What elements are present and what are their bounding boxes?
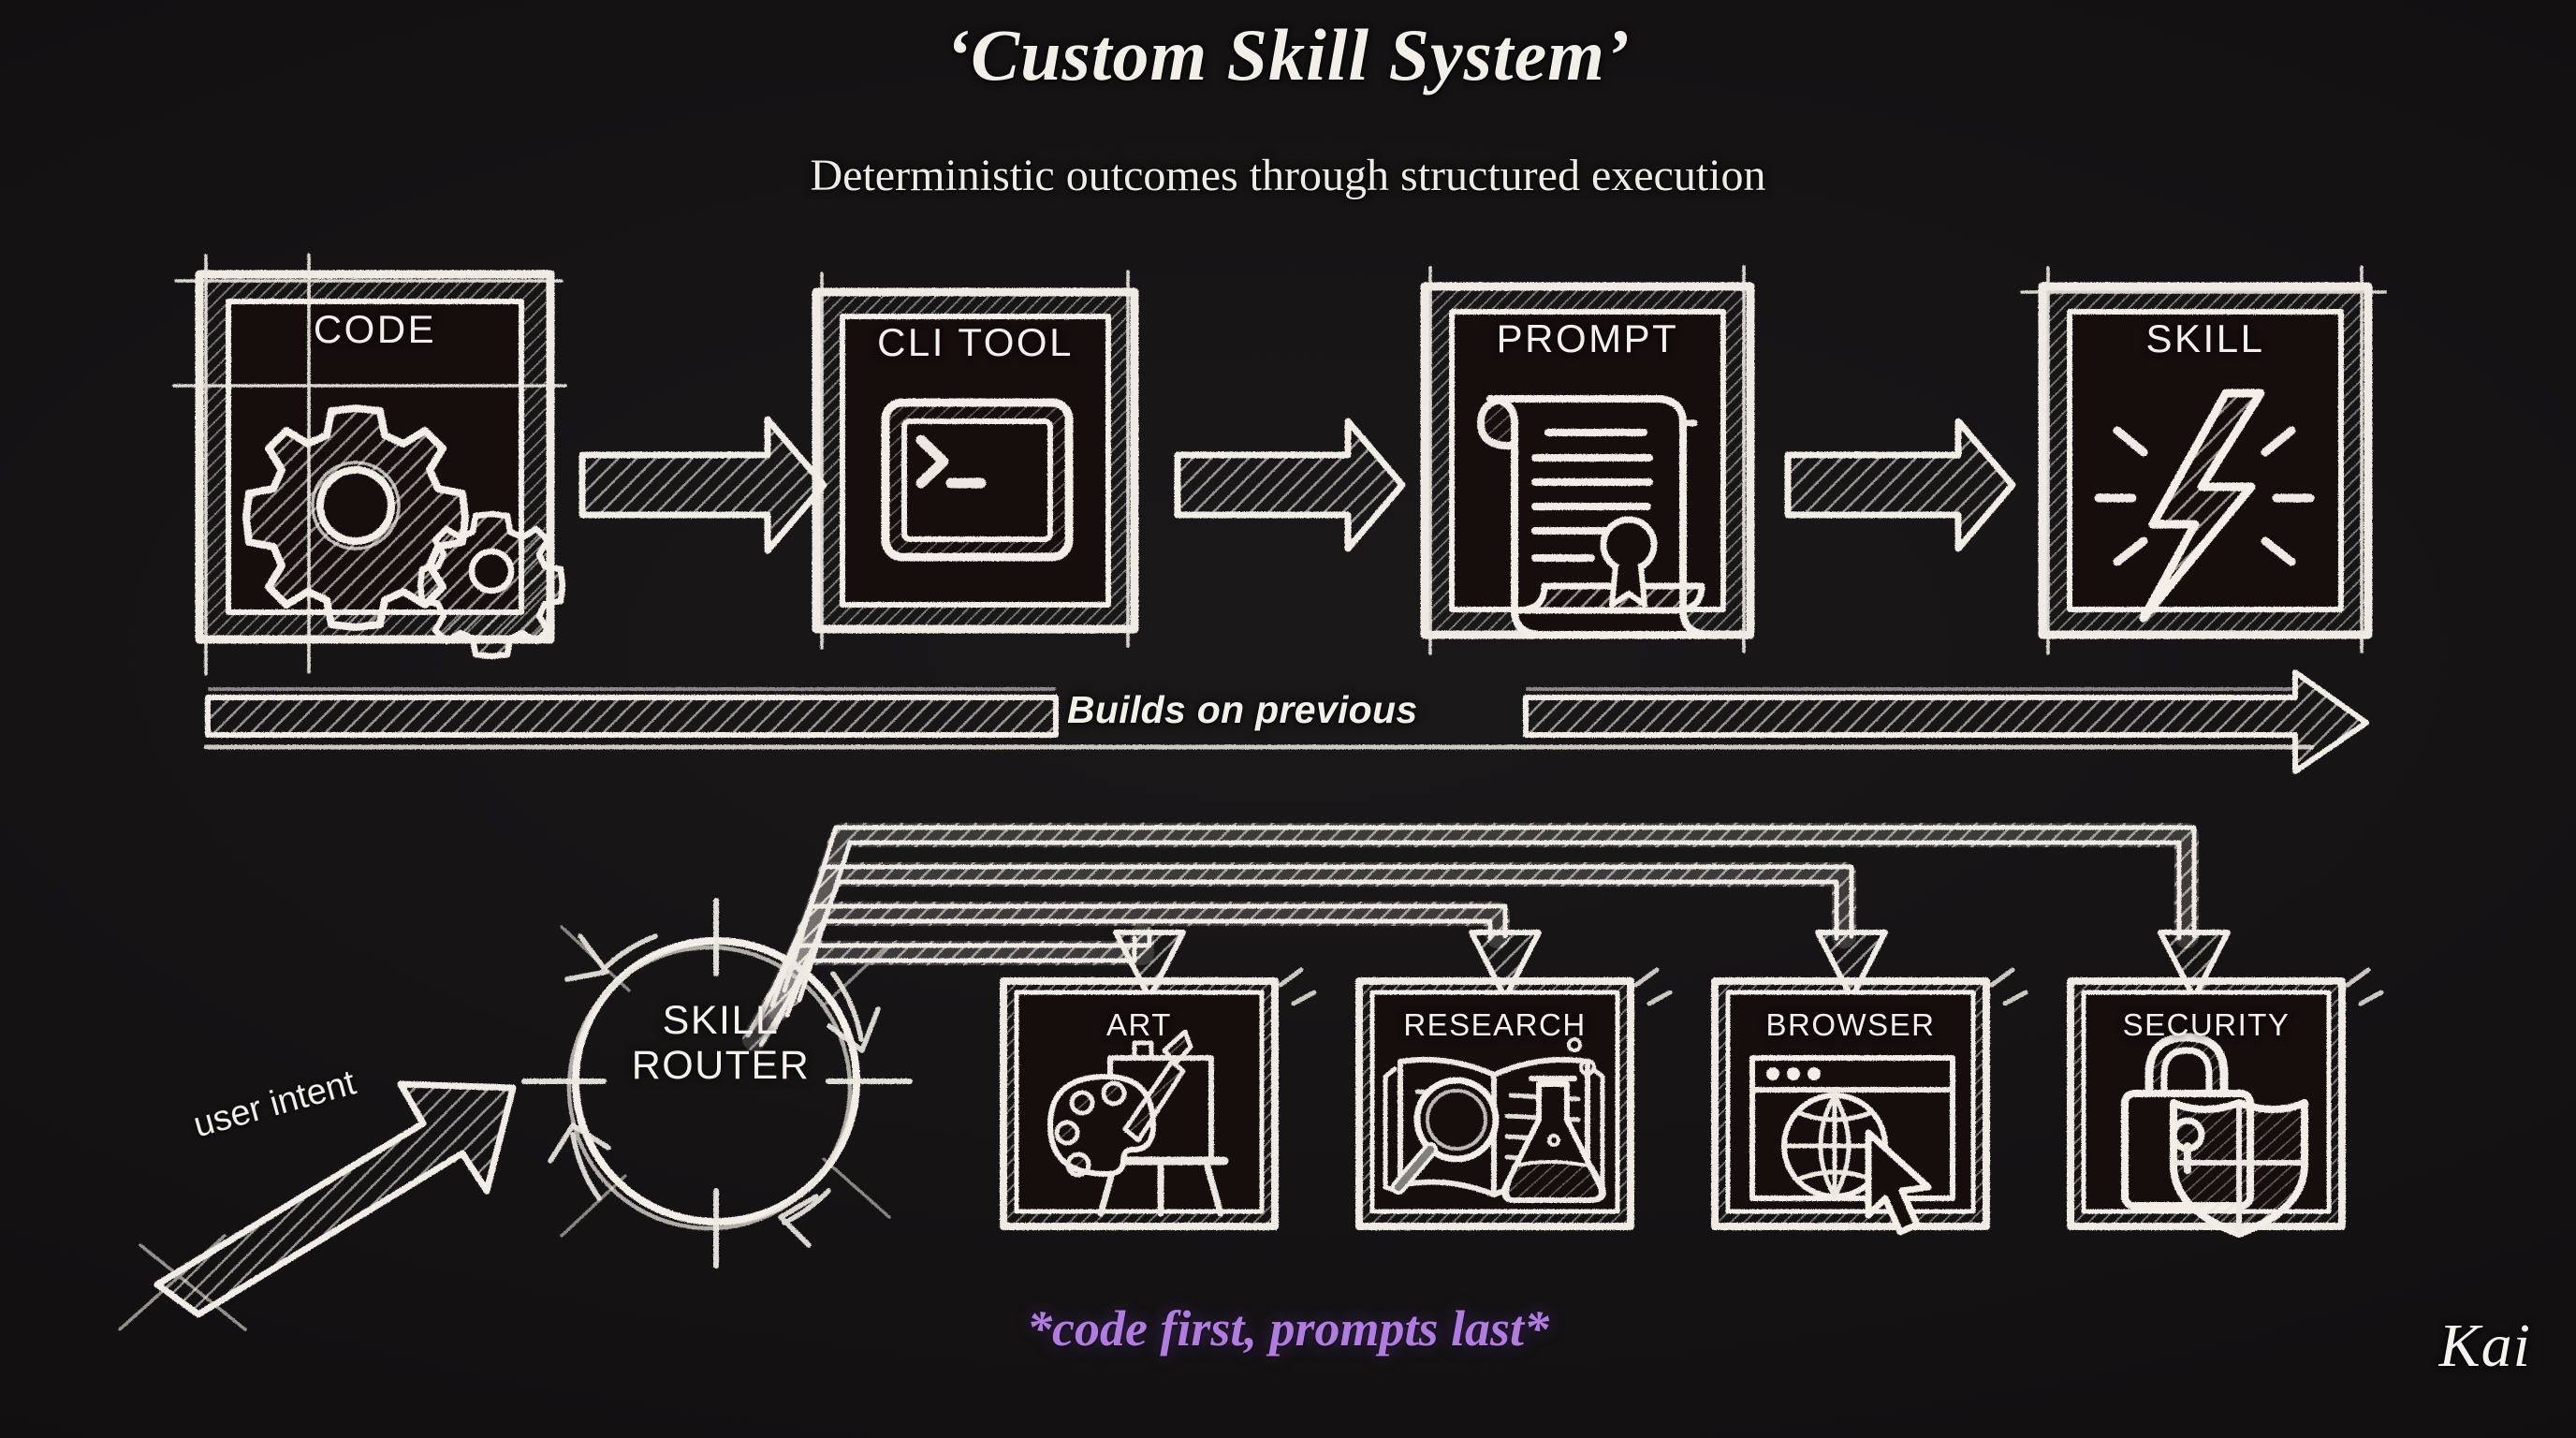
stage-arrow-1 — [582, 419, 824, 550]
router-label-line2: ROUTER — [580, 1043, 861, 1088]
stage-arrow-2 — [1178, 421, 1402, 549]
stage-label-skill: SKILL — [2070, 316, 2341, 361]
stage-arrow-3 — [1788, 421, 2012, 549]
tagline: *code first, prompts last* — [0, 1299, 2576, 1357]
router-label-line1: SKILL — [580, 998, 861, 1043]
stage-label-cli-tool: CLI TOOL — [842, 320, 1108, 365]
page-title: ‘Custom Skill System’ — [0, 13, 2576, 97]
skill-label-security: SECURITY — [2084, 1007, 2329, 1043]
skill-label-browser: BROWSER — [1728, 1007, 1973, 1043]
user-intent-arrow — [120, 1084, 513, 1329]
signature: Kai — [2439, 1311, 2531, 1382]
scroll-certificate-icon — [1481, 399, 1707, 635]
stage-label-prompt: PROMPT — [1452, 316, 1723, 361]
skill-label-art: ART — [1017, 1007, 1262, 1043]
skill-label-research: RESEARCH — [1372, 1007, 1617, 1043]
stage-label-code: CODE — [228, 307, 521, 352]
page-subtitle: Deterministic outcomes through structure… — [0, 150, 2576, 201]
terminal-icon — [885, 403, 1069, 557]
skill-router-label: SKILL ROUTER — [580, 998, 861, 1088]
gear-small-icon — [420, 514, 563, 656]
builds-on-previous-label: Builds on previous — [1067, 688, 1417, 732]
